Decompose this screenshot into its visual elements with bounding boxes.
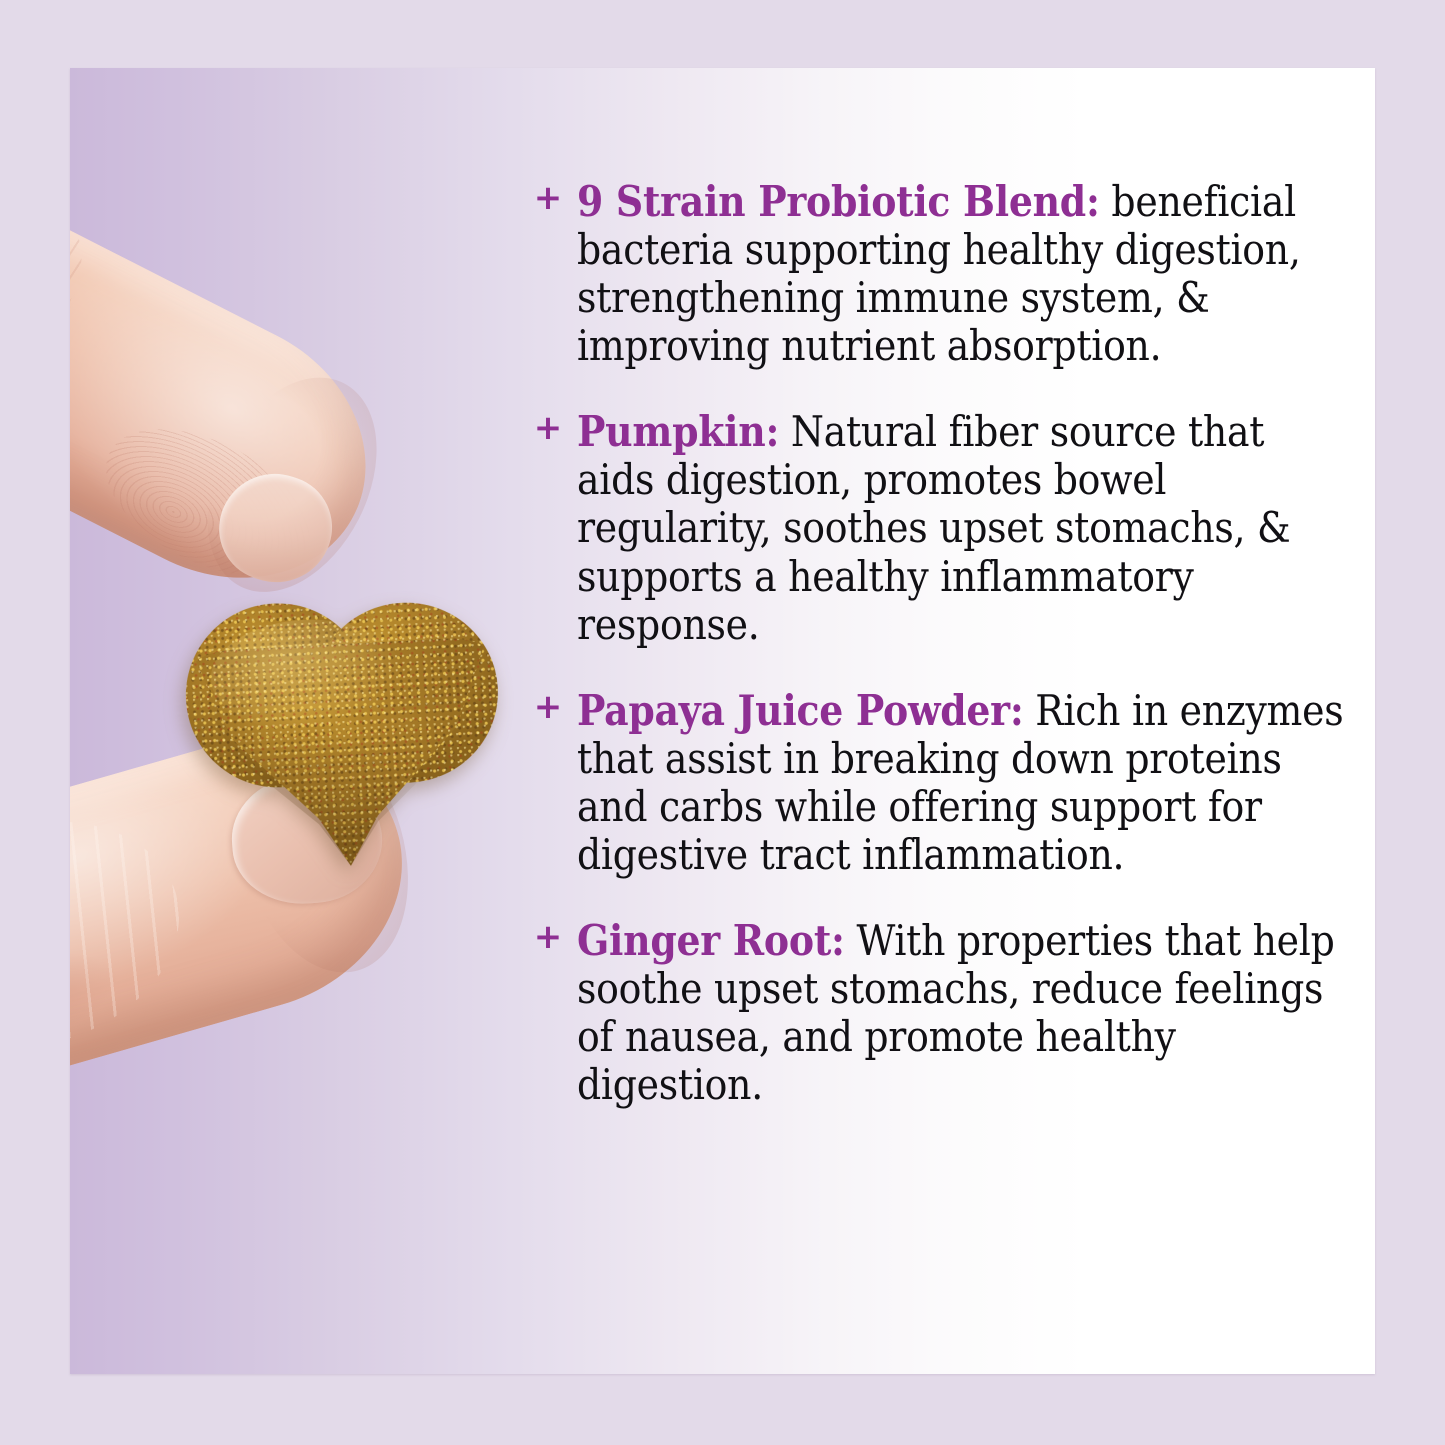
plus-icon: +: [533, 692, 563, 722]
benefit-heading: Papaya Juice Powder:: [577, 686, 1024, 735]
plus-icon: +: [533, 413, 563, 443]
finger-knuckle-texture: [70, 221, 99, 465]
benefit-text: Papaya Juice Powder: Rich in enzymes tha…: [577, 687, 1344, 879]
benefit-text: Pumpkin: Natural fiber source that aids …: [577, 408, 1344, 648]
benefit-item-probiotic-blend: + 9 Strain Probiotic Blend: beneficial b…: [525, 178, 1345, 370]
benefit-text: 9 Strain Probiotic Blend: beneficial bac…: [577, 178, 1344, 370]
benefit-heading: 9 Strain Probiotic Blend:: [577, 177, 1100, 226]
benefits-list: + 9 Strain Probiotic Blend: beneficial b…: [525, 178, 1345, 1109]
benefit-heading: Pumpkin:: [577, 407, 779, 456]
benefit-item-pumpkin: + Pumpkin: Natural fiber source that aid…: [525, 408, 1345, 648]
index-finger: [70, 150, 411, 627]
plus-icon: +: [533, 183, 563, 213]
finger-crease: [70, 372, 86, 492]
benefit-item-ginger-root: + Ginger Root: With properties that help…: [525, 917, 1345, 1109]
product-photo: [70, 68, 540, 1374]
heart-shaped-chew: [181, 592, 507, 876]
infographic-canvas: + 9 Strain Probiotic Blend: beneficial b…: [0, 0, 1445, 1445]
content-panel: + 9 Strain Probiotic Blend: beneficial b…: [70, 68, 1375, 1374]
benefit-heading: Ginger Root:: [577, 916, 845, 965]
benefit-text: Ginger Root: With properties that help s…: [577, 917, 1344, 1109]
benefit-item-papaya-juice-powder: + Papaya Juice Powder: Rich in enzymes t…: [525, 687, 1345, 879]
plus-icon: +: [533, 922, 563, 952]
thumb-skin-lines: [70, 788, 206, 1082]
